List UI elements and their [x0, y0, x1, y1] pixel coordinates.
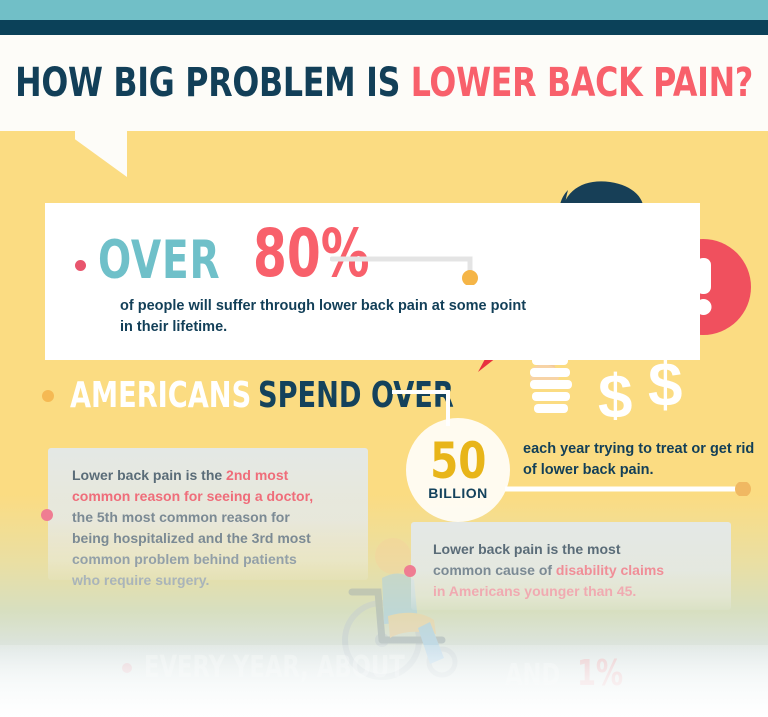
page-title: HOW BIG PROBLEM IS LOWER BACK PAIN?	[46, 35, 722, 131]
pink-bullet-icon-box-2	[404, 565, 416, 577]
red-bullet-icon	[75, 260, 86, 271]
info-1-line-6: who require surgery.	[72, 570, 348, 591]
info-1-line-5: common problem behind patients	[72, 549, 348, 570]
bottom-percent-group: AND 1%	[505, 653, 632, 694]
connector-line-80-to-man	[330, 245, 490, 285]
top-accent-bar-teal	[0, 0, 768, 20]
info-box-disability-claims: Lower back pain is the most common cause…	[411, 522, 731, 610]
connector-line-spend-description	[505, 482, 753, 496]
spend-heading-white: AMERICANS	[70, 378, 251, 414]
pink-bullet-icon-bottom	[122, 663, 132, 673]
top-accent-bar-navy	[0, 20, 768, 35]
info-1-line-4: being hospitalized and the 3rd most	[72, 528, 348, 549]
page-title-accent: LOWER BACK PAIN?	[411, 60, 753, 106]
info-2-line-3: in Americans younger than 45.	[433, 581, 713, 602]
info-2-line-1: Lower back pain is the most	[433, 539, 713, 560]
info-1-line-3: the 5th most common reason for	[72, 507, 348, 528]
bottom-percent-value: 1%	[577, 653, 623, 694]
spend-description: each year trying to treat or get rid of …	[523, 439, 758, 481]
bottom-faded-section: EVERY YEAR, ABOUT AND 1%	[0, 645, 768, 717]
info-2-line-2: common cause of disability claims	[433, 560, 713, 581]
bottom-and-label: AND	[505, 658, 560, 693]
stat-circle-50-billion: 50 BILLION	[406, 418, 510, 522]
stat-50-value: 50	[430, 439, 486, 484]
orange-bullet-icon	[42, 390, 54, 402]
bottom-heading-text: EVERY YEAR, ABOUT	[144, 653, 405, 683]
bottom-heading-group: EVERY YEAR, ABOUT	[122, 653, 454, 683]
page-title-primary: HOW BIG PROBLEM IS	[15, 60, 400, 106]
info-1-line-2: common reason for seeing a doctor,	[72, 486, 348, 507]
pink-bullet-icon-box-1	[41, 509, 53, 521]
stat-80-description: of people will suffer through lower back…	[120, 296, 540, 338]
svg-text:$: $	[648, 351, 682, 420]
info-box-doctor-visits: Lower back pain is the 2nd most common r…	[48, 448, 368, 580]
svg-text:$: $	[598, 363, 632, 420]
info-1-line-1: Lower back pain is the 2nd most	[72, 465, 348, 486]
stat-80-prefix: OVER	[98, 234, 220, 287]
